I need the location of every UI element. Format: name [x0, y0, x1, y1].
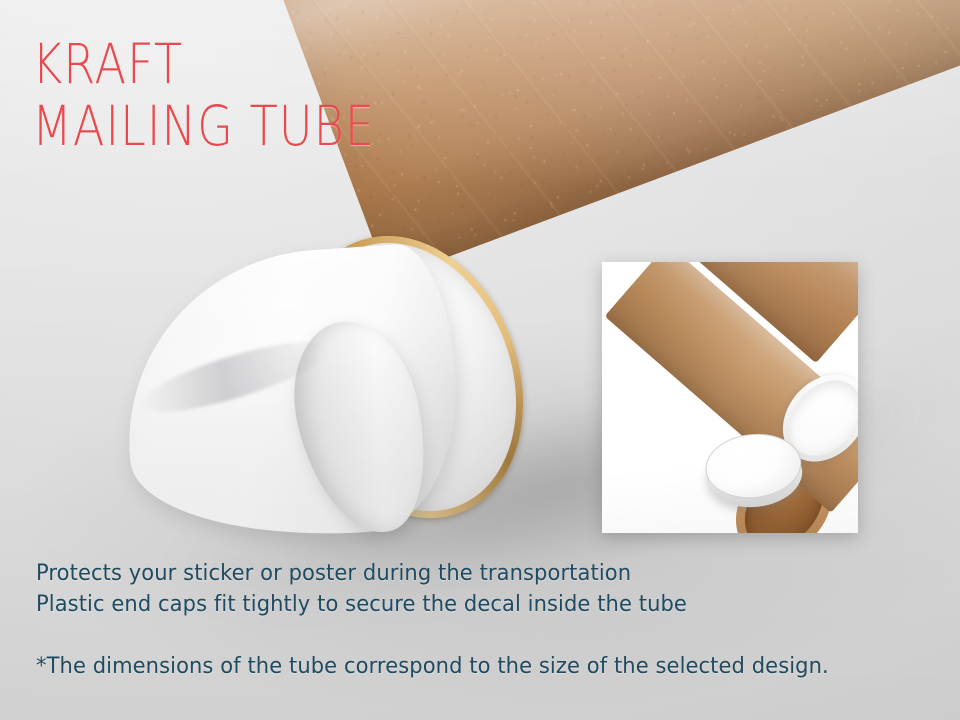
product-banner: KRAFT MAILING TUBE Protects your sticker…: [0, 0, 960, 720]
footnote-text: *The dimensions of the tube correspond t…: [36, 652, 829, 682]
inset-detail-photo: [602, 262, 858, 533]
feature-copy: Protects your sticker or poster during t…: [36, 558, 718, 620]
feature-line-2: Plastic end caps fit tightly to secure t…: [36, 589, 687, 620]
headline: KRAFT MAILING TUBE: [32, 33, 440, 157]
feature-line-1: Protects your sticker or poster during t…: [36, 558, 687, 589]
headline-line-2: MAILING TUBE: [32, 95, 375, 157]
headline-line-1: KRAFT: [32, 33, 375, 95]
inset-loose-plastic-end-cap: [702, 429, 805, 515]
